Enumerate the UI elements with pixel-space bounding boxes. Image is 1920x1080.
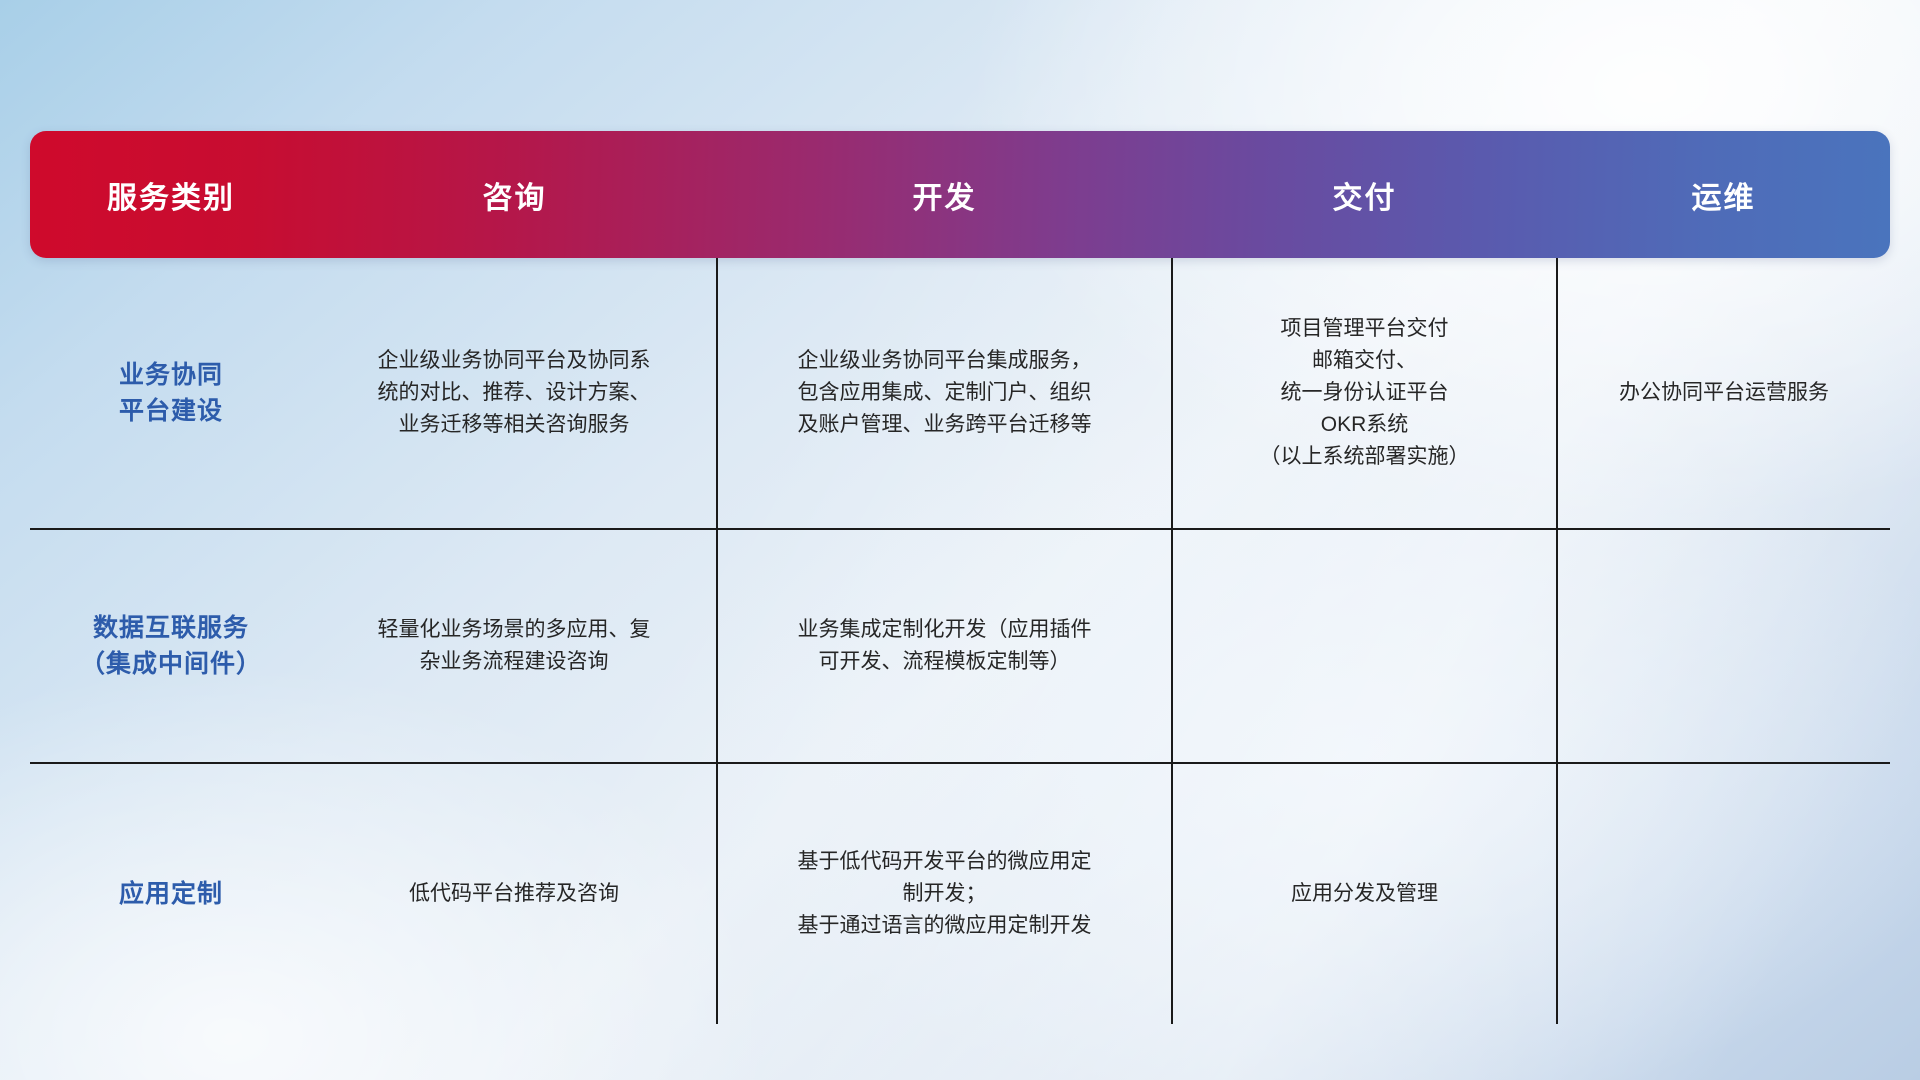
cell-develop-row-3: 基于低代码开发平台的微应用定 制开发； 基于通过语言的微应用定制开发 bbox=[717, 763, 1172, 1024]
column-header-category: 服务类别 bbox=[30, 131, 312, 258]
column-header-develop-label: 开发 bbox=[717, 173, 1172, 217]
service-category-table-wrapper: 服务类别 咨询 开发 交付 运维 bbox=[30, 131, 1890, 959]
cell-ops-row-1: 办公协同平台运营服务 bbox=[1557, 258, 1890, 529]
row-label-business-collaboration: 业务协同 平台建设 bbox=[30, 258, 312, 529]
column-header-deliver-label: 交付 bbox=[1172, 173, 1557, 217]
column-header-category-label: 服务类别 bbox=[30, 173, 312, 217]
table-header: 服务类别 咨询 开发 交付 运维 bbox=[30, 131, 1890, 258]
cell-ops-row-2 bbox=[1557, 529, 1890, 763]
cell-develop-row-1: 企业级业务协同平台集成服务， 包含应用集成、定制门户、组织 及账户管理、业务跨平… bbox=[717, 258, 1172, 529]
cell-deliver-row-2 bbox=[1172, 529, 1557, 763]
table-row: 应用定制 低代码平台推荐及咨询 基于低代码开发平台的微应用定 制开发； 基于通过… bbox=[30, 763, 1890, 1024]
column-header-ops-label: 运维 bbox=[1557, 173, 1890, 217]
cell-develop-row-2: 业务集成定制化开发（应用插件 可开发、流程模板定制等） bbox=[717, 529, 1172, 763]
table-row: 业务协同 平台建设 企业级业务协同平台及协同系 统的对比、推荐、设计方案、 业务… bbox=[30, 258, 1890, 529]
column-header-consult-label: 咨询 bbox=[312, 173, 717, 217]
cell-deliver-row-1: 项目管理平台交付 邮箱交付、 统一身份认证平台 OKR系统 （以上系统部署实施） bbox=[1172, 258, 1557, 529]
row-label-data-interconnect: 数据互联服务 （集成中间件） bbox=[30, 529, 312, 763]
table-header-row: 服务类别 咨询 开发 交付 运维 bbox=[30, 131, 1890, 258]
cell-consult-row-3: 低代码平台推荐及咨询 bbox=[312, 763, 717, 1024]
column-header-develop: 开发 bbox=[717, 131, 1172, 258]
table-row: 数据互联服务 （集成中间件） 轻量化业务场景的多应用、复 杂业务流程建设咨询 业… bbox=[30, 529, 1890, 763]
cell-consult-row-2: 轻量化业务场景的多应用、复 杂业务流程建设咨询 bbox=[312, 529, 717, 763]
column-header-deliver: 交付 bbox=[1172, 131, 1557, 258]
column-header-ops: 运维 bbox=[1557, 131, 1890, 258]
cell-ops-row-3 bbox=[1557, 763, 1890, 1024]
service-category-table: 服务类别 咨询 开发 交付 运维 bbox=[30, 131, 1890, 1024]
table-body: 业务协同 平台建设 企业级业务协同平台及协同系 统的对比、推荐、设计方案、 业务… bbox=[30, 258, 1890, 1024]
cell-consult-row-1: 企业级业务协同平台及协同系 统的对比、推荐、设计方案、 业务迁移等相关咨询服务 bbox=[312, 258, 717, 529]
column-header-consult: 咨询 bbox=[312, 131, 717, 258]
page-background: 服务类别 咨询 开发 交付 运维 bbox=[0, 0, 1920, 1080]
row-label-app-customization: 应用定制 bbox=[30, 763, 312, 1024]
cell-deliver-row-3: 应用分发及管理 bbox=[1172, 763, 1557, 1024]
